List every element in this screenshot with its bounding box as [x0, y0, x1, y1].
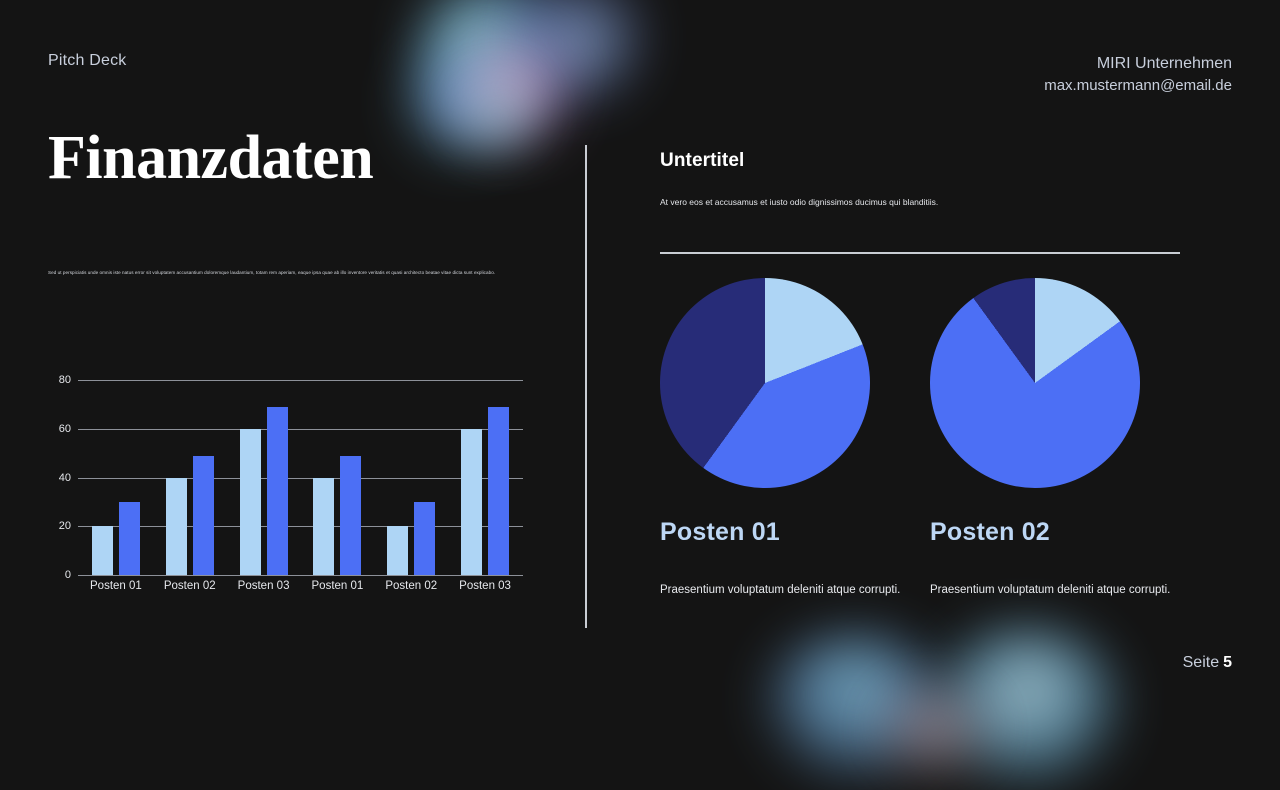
- bar: [387, 526, 408, 575]
- section-subtitle: Untertitel: [660, 150, 744, 172]
- bar: [193, 456, 214, 575]
- bar: [267, 407, 288, 575]
- page-label: Seite: [1183, 654, 1219, 671]
- bar-chart-y-tick: 60: [59, 423, 71, 435]
- pie-chart-posten-01: [660, 278, 870, 488]
- bar-chart-bars: [79, 380, 522, 575]
- bar: [488, 407, 509, 575]
- bar-chart-y-tick: 40: [59, 472, 71, 484]
- bar: [119, 502, 140, 575]
- brand-block: MIRI Unternehmen max.mustermann@email.de: [1044, 52, 1232, 97]
- bar-chart-y-axis: 020406080: [48, 380, 78, 575]
- bar-chart-x-label: Posten 02: [164, 580, 216, 592]
- lead-paragraph: Sed ut perspiciatis unde omnis iste natu…: [48, 269, 518, 276]
- bar-chart-y-tick: 80: [59, 374, 71, 386]
- item-body-posten-01: Praesentium voluptatum deleniti atque co…: [660, 582, 925, 598]
- bar-chart-y-tick: 20: [59, 520, 71, 532]
- bar-chart-x-label: Posten 02: [385, 580, 437, 592]
- bar: [92, 526, 113, 575]
- contact-email: max.mustermann@email.de: [1044, 75, 1232, 97]
- item-title-posten-02: Posten 02: [930, 518, 1050, 547]
- bar-group: [387, 380, 435, 575]
- bar-chart-x-labels: Posten 01Posten 02Posten 03Posten 01Post…: [79, 580, 522, 592]
- item-title-posten-01: Posten 01: [660, 518, 780, 547]
- bar-group: [240, 380, 288, 575]
- bar-chart: 020406080 Posten 01Posten 02Posten 03Pos…: [48, 370, 528, 630]
- bar-group: [166, 380, 214, 575]
- slide: Pitch Deck MIRI Unternehmen max.musterma…: [0, 0, 1280, 720]
- page-number: 5: [1223, 654, 1232, 671]
- bar: [340, 456, 361, 575]
- page-title: Finanzdaten: [48, 126, 373, 191]
- bar-chart-x-label: Posten 03: [459, 580, 511, 592]
- pie-chart-posten-02: [930, 278, 1140, 488]
- pie-chart-group: [660, 278, 1200, 493]
- section-subtitle-body: At vero eos et accusamus et iusto odio d…: [660, 196, 1200, 209]
- bar-chart-baseline: [78, 575, 523, 576]
- company-name: MIRI Unternehmen: [1044, 52, 1232, 75]
- bar-chart-x-label: Posten 03: [238, 580, 290, 592]
- vertical-divider: [585, 145, 587, 628]
- bar-group: [92, 380, 140, 575]
- bar-chart-x-label: Posten 01: [90, 580, 142, 592]
- deck-kicker: Pitch Deck: [48, 52, 126, 70]
- bar-group: [461, 380, 509, 575]
- page-indicator: Seite5: [1183, 654, 1232, 672]
- horizontal-divider: [660, 252, 1180, 254]
- bar-chart-y-tick: 0: [65, 569, 71, 581]
- bar-chart-x-label: Posten 01: [312, 580, 364, 592]
- bar: [414, 502, 435, 575]
- item-body-posten-02: Praesentium voluptatum deleniti atque co…: [930, 582, 1195, 598]
- bar: [240, 429, 261, 575]
- bar: [166, 478, 187, 576]
- bar-group: [313, 380, 361, 575]
- bar: [313, 478, 334, 576]
- bar: [461, 429, 482, 575]
